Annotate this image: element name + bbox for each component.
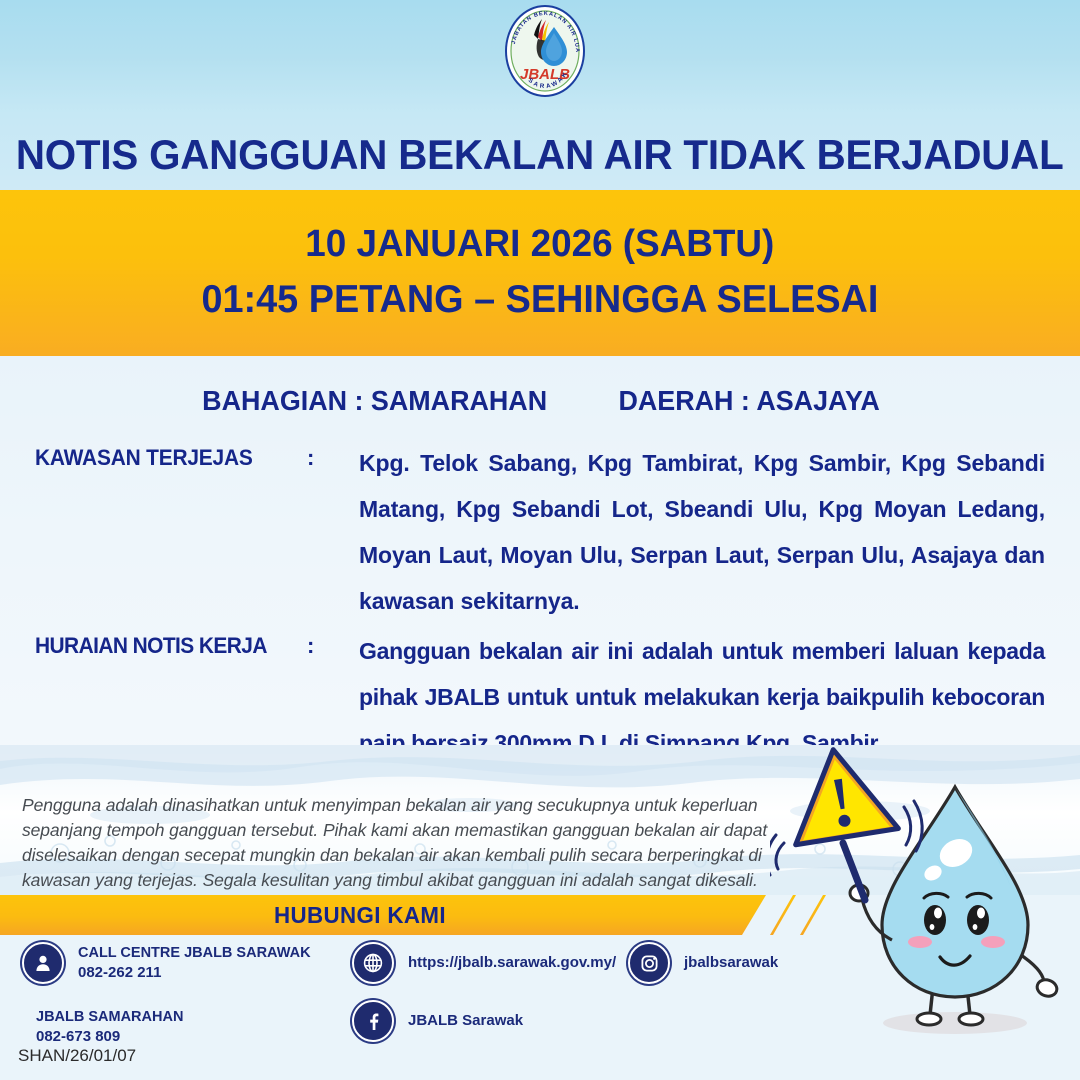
contact-band-stripe-2 (800, 895, 826, 935)
region-row: BAHAGIAN : SAMARAHAN DAERAH : ASAJAYA (0, 385, 1080, 417)
contact-facebook-handle: JBALB Sarawak (408, 1002, 523, 1040)
page-title: NOTIS GANGGUAN BEKALAN AIR TIDAK BERJADU… (16, 131, 1064, 179)
contact-jbalb-samarahan[interactable]: JBALB SAMARAHAN 082-673 809 (22, 1008, 183, 1047)
page-title-container: NOTIS GANGGUAN BEKALAN AIR TIDAK BERJADU… (0, 126, 1080, 184)
contact-call-centre[interactable]: CALL CENTRE JBALB SARAWAK 082-262 211 (22, 942, 311, 984)
person-icon (22, 942, 64, 984)
contact-call-centre-text: CALL CENTRE JBALB SARAWAK 082-262 211 (78, 942, 311, 983)
contact-facebook[interactable]: JBALB Sarawak (352, 1000, 523, 1042)
contact-band-title: HUBUNGI KAMI (11, 895, 709, 935)
contact-call-centre-number: 082-262 211 (78, 963, 311, 983)
disclaimer-text: Pengguna adalah dinasihatkan untuk menyi… (22, 793, 782, 893)
contact-website-text: https://jbalb.sarawak.gov.my/ (408, 942, 616, 982)
details-table: KAWASAN TERJEJAS : Kpg. Telok Sabang, Kp… (35, 440, 1045, 770)
table-row-affected-areas: KAWASAN TERJEJAS : Kpg. Telok Sabang, Kp… (35, 440, 1045, 624)
work-description-label: HURAIAN NOTIS KERJA (35, 628, 293, 664)
reference-code: SHAN/26/01/07 (18, 1046, 136, 1066)
contact-facebook-text: JBALB Sarawak (408, 1000, 523, 1040)
division-label: BAHAGIAN : SAMARAHAN (202, 385, 547, 417)
district-label: DAERAH : ASAJAYA (618, 385, 879, 417)
notice-time: 01:45 PETANG – SEHINGGA SELESAI (202, 272, 879, 327)
contact-band-stripe-1 (770, 895, 796, 935)
notice-date: 10 JANUARI 2026 (SABTU) (305, 218, 774, 272)
contact-samarahan-number: 082-673 809 (36, 1027, 183, 1047)
globe-icon (352, 942, 394, 984)
work-description-colon: : (307, 628, 359, 664)
contact-samarahan-text: JBALB SAMARAHAN 082-673 809 (36, 1008, 183, 1047)
date-band: 10 JANUARI 2026 (SABTU) 01:45 PETANG – S… (0, 190, 1080, 356)
contact-samarahan-name: JBALB SAMARAHAN (36, 1008, 183, 1027)
facebook-icon (352, 1000, 394, 1042)
contact-instagram-handle: jbalbsarawak (684, 944, 778, 982)
instagram-icon (628, 942, 670, 984)
contact-website-url: https://jbalb.sarawak.gov.my/ (408, 944, 616, 982)
contact-band: HUBUNGI KAMI (0, 895, 1080, 935)
contact-instagram[interactable]: jbalbsarawak (628, 942, 778, 984)
notice-poster: JBALB JABATAN BEKALAN AIR LUAR BANDAR SA… (0, 0, 1080, 1080)
contact-call-centre-name: CALL CENTRE JBALB SARAWAK (78, 944, 311, 963)
contact-website[interactable]: https://jbalb.sarawak.gov.my/ (352, 942, 616, 984)
affected-areas-label: KAWASAN TERJEJAS (35, 440, 293, 476)
contacts-list: CALL CENTRE JBALB SARAWAK 082-262 211 JB… (0, 940, 1080, 1060)
affected-areas-colon: : (307, 440, 359, 476)
jbalb-logo: JBALB JABATAN BEKALAN AIR LUAR BANDAR SA… (505, 5, 585, 97)
contact-instagram-text: jbalbsarawak (684, 942, 778, 982)
affected-areas-value: Kpg. Telok Sabang, Kpg Tambirat, Kpg Sam… (359, 440, 1045, 624)
